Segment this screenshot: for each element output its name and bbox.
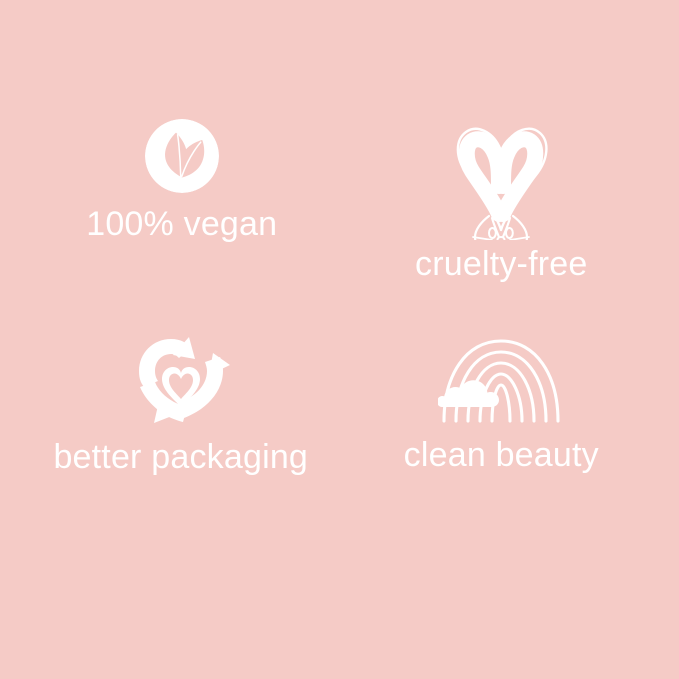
badge-better-packaging[interactable]: better packaging [22,335,340,500]
badge-label-vegan: 100% vegan [86,206,277,243]
badge-grid: 100% vegan [0,0,679,679]
bunny-heart-ears-icon [445,118,557,240]
badge-label-better-packaging: better packaging [53,439,308,476]
recycle-heart-icon [129,335,233,427]
rainbow-cloud-icon [438,335,564,423]
badge-vegan[interactable]: 100% vegan [22,118,340,283]
badge-cruelty-free[interactable]: cruelty-free [340,118,658,283]
badge-board: 100% vegan [0,0,679,679]
badge-clean-beauty[interactable]: clean beauty [340,335,658,500]
leaf-circle-icon [144,118,220,194]
badge-label-cruelty-free: cruelty-free [415,246,587,283]
badge-label-clean-beauty: clean beauty [404,437,599,474]
